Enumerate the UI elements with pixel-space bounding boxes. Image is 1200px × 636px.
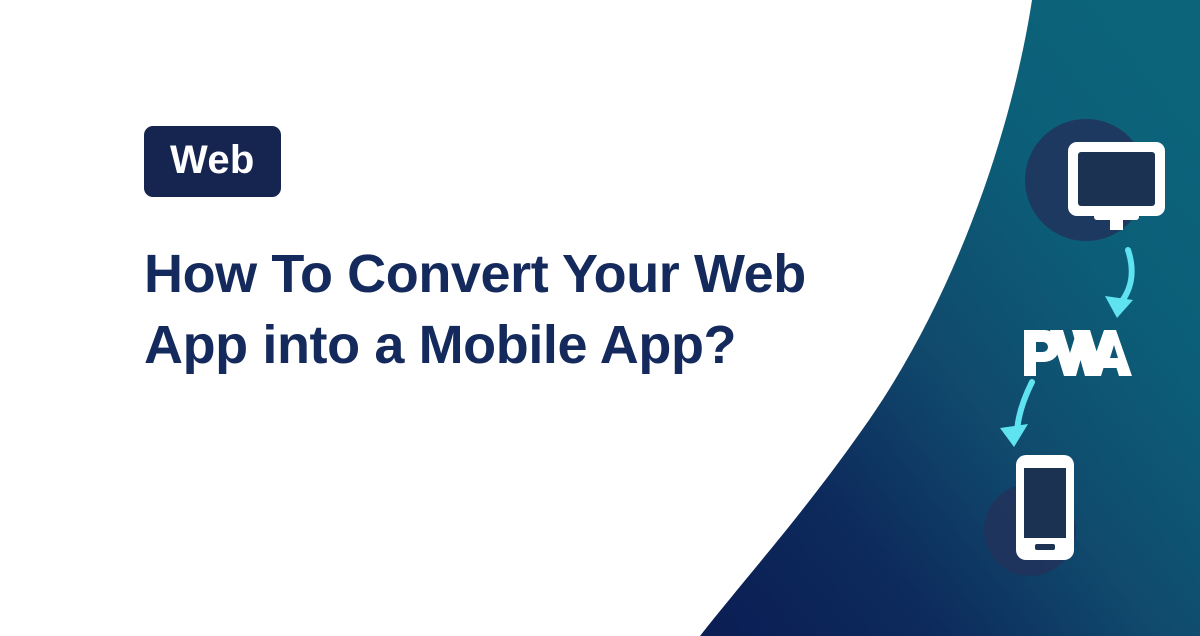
banner-text-column: Web How To Convert Your Web App into a M…: [144, 126, 904, 380]
decorative-circle-bottom: [984, 484, 1076, 576]
blog-banner: Web How To Convert Your Web App into a M…: [0, 0, 1200, 636]
decorative-circle-top: [1025, 119, 1147, 241]
category-badge[interactable]: Web: [144, 126, 281, 197]
page-title: How To Convert Your Web App into a Mobil…: [144, 239, 884, 380]
